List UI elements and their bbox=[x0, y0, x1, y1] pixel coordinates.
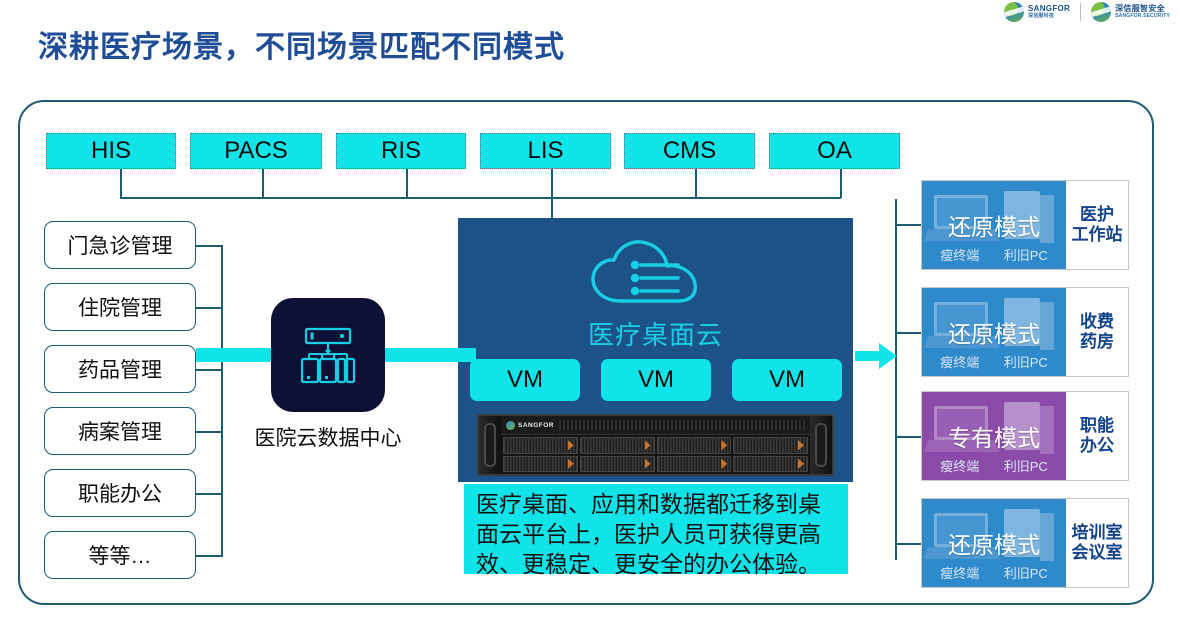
security-logo-en: SANGFOR SECURITY bbox=[1115, 14, 1170, 19]
scenario-line-1: 职能 bbox=[1080, 416, 1114, 436]
rack-server-image: SANGFOR bbox=[477, 414, 834, 476]
mode-tile: 还原模式 瘦终端 利旧PC bbox=[922, 181, 1066, 269]
scenario-line-2: 会议室 bbox=[1072, 543, 1123, 563]
left-branch-1 bbox=[196, 245, 222, 247]
sangfor-logo-cn: 深信服科技 bbox=[1028, 14, 1070, 19]
endpoint-labels: 瘦终端 利旧PC bbox=[922, 245, 1066, 264]
drive-bay bbox=[733, 437, 808, 454]
right-branch-2 bbox=[895, 332, 922, 334]
sangfor-logo: SANGFOR 深信服科技 bbox=[1004, 2, 1070, 22]
endpoint-legacy-pc: 利旧PC bbox=[1004, 352, 1048, 371]
drive-bay bbox=[733, 456, 808, 473]
tab-connector-pacs bbox=[262, 169, 264, 198]
server-vent bbox=[559, 420, 806, 430]
scenario-label: 医护 工作站 bbox=[1066, 181, 1128, 269]
cloud-label: 医疗桌面云 bbox=[458, 315, 853, 352]
right-bus-line bbox=[895, 199, 897, 560]
sangfor-security-logo: 深信服智安全 SANGFOR SECURITY bbox=[1091, 2, 1170, 22]
scenario-line-2: 药房 bbox=[1080, 332, 1114, 352]
mode-label: 还原模式 bbox=[948, 208, 1040, 242]
left-branch-2 bbox=[196, 307, 222, 309]
drive-bay bbox=[580, 437, 655, 454]
page-title: 深耕医疗场景，不同场景匹配不同模式 bbox=[38, 22, 565, 66]
drive-bay bbox=[657, 456, 732, 473]
hospital-datacenter-node[interactable] bbox=[271, 298, 385, 412]
server-front-panel: SANGFOR bbox=[501, 416, 810, 435]
endpoint-labels: 瘦终端 利旧PC bbox=[922, 456, 1066, 475]
scenario-line-1: 收费 bbox=[1080, 312, 1114, 332]
mode-label: 专有模式 bbox=[948, 419, 1040, 453]
brand-logos: SANGFOR 深信服科技 深信服智安全 SANGFOR SECURITY bbox=[1004, 2, 1170, 22]
tab-connector-his bbox=[120, 169, 122, 198]
right-branch-3 bbox=[895, 436, 922, 438]
tab-connector-lis bbox=[551, 169, 553, 198]
vm-row: VM VM VM bbox=[470, 359, 842, 401]
mode-tile: 还原模式 瘦终端 利旧PC bbox=[922, 288, 1066, 376]
endpoint-legacy-pc: 利旧PC bbox=[1004, 456, 1048, 475]
tab-his[interactable]: HIS bbox=[46, 133, 176, 169]
right-branch-1 bbox=[895, 224, 922, 226]
tab-connector-oa bbox=[840, 169, 842, 198]
logo-divider bbox=[1080, 3, 1081, 21]
tab-bus-line bbox=[120, 197, 841, 199]
drive-bay bbox=[580, 456, 655, 473]
tab-connector-cms bbox=[695, 169, 697, 198]
server-body: SANGFOR bbox=[501, 416, 810, 474]
left-item-etc[interactable]: 等等… bbox=[44, 531, 196, 579]
panel-description: 医疗桌面、应用和数据都迁移到桌面云平台上，医护人员可获得更高效、更稳定、更安全的… bbox=[464, 484, 848, 574]
cloud-icon-wrap bbox=[458, 235, 853, 318]
scenario-line-1: 培训室 bbox=[1072, 523, 1123, 543]
scenario-card-medical-workstation[interactable]: 还原模式 瘦终端 利旧PC 医护 工作站 bbox=[921, 180, 1129, 270]
endpoint-legacy-pc: 利旧PC bbox=[1004, 245, 1048, 264]
datacenter-label: 医院云数据中心 bbox=[250, 422, 406, 452]
cloud-list-icon bbox=[581, 235, 731, 313]
drive-bay bbox=[503, 456, 578, 473]
sangfor-security-icon bbox=[1091, 2, 1111, 22]
left-item-admin[interactable]: 职能办公 bbox=[44, 469, 196, 517]
tab-ris[interactable]: RIS bbox=[336, 133, 466, 169]
scenario-card-admin-office[interactable]: 专有模式 瘦终端 利旧PC 职能 办公 bbox=[921, 391, 1129, 481]
scenario-line-1: 医护 bbox=[1080, 205, 1114, 225]
left-bus-line bbox=[221, 245, 223, 557]
vm-item-2[interactable]: VM bbox=[601, 359, 711, 401]
vm-item-1[interactable]: VM bbox=[470, 359, 580, 401]
left-item-pharmacy[interactable]: 药品管理 bbox=[44, 345, 196, 393]
tab-oa[interactable]: OA bbox=[769, 133, 900, 169]
bay-row-top bbox=[503, 437, 808, 454]
server-brand-text: SANGFOR bbox=[518, 422, 554, 429]
mode-label: 还原模式 bbox=[948, 526, 1040, 560]
scenario-label: 职能 办公 bbox=[1066, 392, 1128, 480]
tab-cms[interactable]: CMS bbox=[624, 133, 755, 169]
endpoint-thin-client: 瘦终端 bbox=[940, 352, 979, 371]
endpoint-legacy-pc: 利旧PC bbox=[1004, 563, 1048, 582]
left-item-records[interactable]: 病案管理 bbox=[44, 407, 196, 455]
mode-tile: 专有模式 瘦终端 利旧PC bbox=[922, 392, 1066, 480]
endpoint-labels: 瘦终端 利旧PC bbox=[922, 563, 1066, 582]
server-ear-left bbox=[479, 416, 501, 474]
panel-feed-line bbox=[551, 197, 553, 219]
drive-bay bbox=[503, 437, 578, 454]
scenario-card-billing-pharmacy[interactable]: 还原模式 瘦终端 利旧PC 收费 药房 bbox=[921, 287, 1129, 377]
scenario-line-2: 办公 bbox=[1080, 436, 1114, 456]
scenario-card-training-meeting[interactable]: 还原模式 瘦终端 利旧PC 培训室 会议室 bbox=[921, 498, 1129, 588]
tab-connector-ris bbox=[406, 169, 408, 198]
endpoint-thin-client: 瘦终端 bbox=[940, 563, 979, 582]
endpoint-labels: 瘦终端 利旧PC bbox=[922, 352, 1066, 371]
sangfor-globe-icon-small bbox=[506, 421, 515, 430]
tab-lis[interactable]: LIS bbox=[480, 133, 611, 169]
left-item-outpatient[interactable]: 门急诊管理 bbox=[44, 221, 196, 269]
mode-label: 还原模式 bbox=[948, 315, 1040, 349]
scenario-line-2: 工作站 bbox=[1072, 225, 1123, 245]
left-branch-4 bbox=[196, 431, 222, 433]
left-item-inpatient[interactable]: 住院管理 bbox=[44, 283, 196, 331]
endpoint-thin-client: 瘦终端 bbox=[940, 245, 979, 264]
slide-canvas: SANGFOR 深信服科技 深信服智安全 SANGFOR SECURITY 深耕… bbox=[0, 0, 1180, 624]
scenario-label: 培训室 会议室 bbox=[1066, 499, 1128, 587]
left-branch-6 bbox=[196, 555, 222, 557]
server-drive-bays bbox=[501, 435, 810, 474]
server-ear-right bbox=[810, 416, 832, 474]
bay-row-bottom bbox=[503, 456, 808, 473]
sangfor-globe-icon bbox=[1004, 2, 1024, 22]
right-branch-4 bbox=[895, 543, 922, 545]
mode-tile: 还原模式 瘦终端 利旧PC bbox=[922, 499, 1066, 587]
left-branch-3 bbox=[196, 369, 222, 371]
server-brand-logo: SANGFOR bbox=[506, 421, 554, 430]
server-rack-network-icon bbox=[292, 319, 364, 391]
drive-bay bbox=[657, 437, 732, 454]
left-branch-5 bbox=[196, 493, 222, 495]
vm-item-3[interactable]: VM bbox=[732, 359, 842, 401]
endpoint-thin-client: 瘦终端 bbox=[940, 456, 979, 475]
scenario-label: 收费 药房 bbox=[1066, 288, 1128, 376]
tab-pacs[interactable]: PACS bbox=[190, 133, 322, 169]
arrow-right-icon bbox=[855, 343, 897, 369]
